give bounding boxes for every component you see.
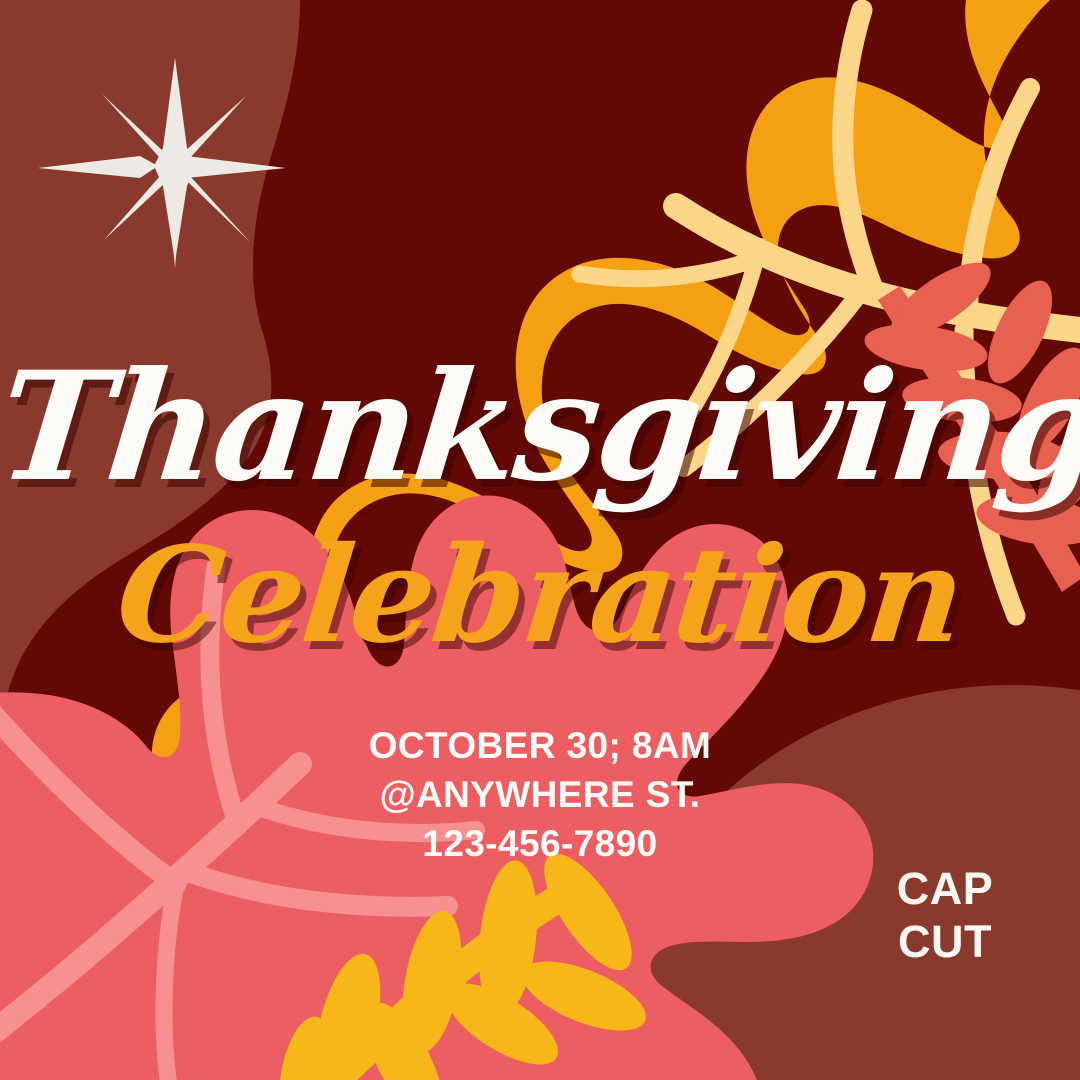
sparkle-star <box>38 58 286 268</box>
sparkle-star-layer <box>0 0 1080 1080</box>
thanksgiving-poster: Thanksgiving Celebration OCTOBER 30; 8AM… <box>0 0 1080 1080</box>
